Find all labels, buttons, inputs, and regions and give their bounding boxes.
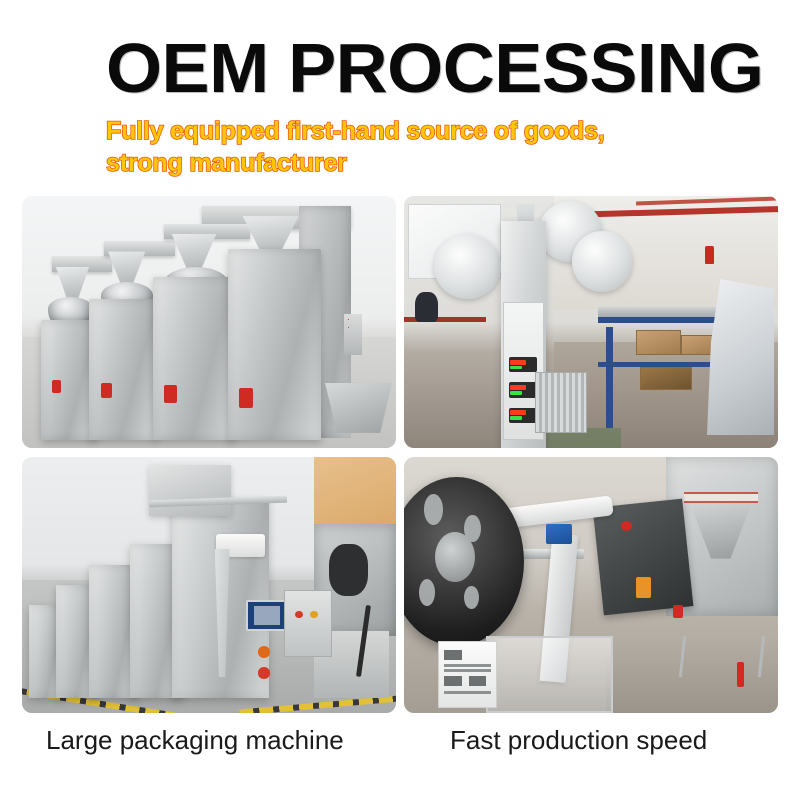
emergency-stop-button[interactable]: [258, 667, 271, 679]
subtitle-line-2: strong manufacturer: [106, 147, 706, 179]
page-title: OEM PROCESSING: [106, 34, 763, 103]
red-stripe: [737, 662, 744, 688]
controller-display-red: [510, 385, 525, 390]
cardboard-box: [640, 367, 692, 390]
controller-display-green: [510, 391, 521, 395]
oem-processing-poster: OEM PROCESSING Fully equipped first-hand…: [0, 0, 800, 800]
cardboard-box: [636, 330, 681, 355]
worker-silhouette: [415, 292, 437, 322]
label-text-line: [444, 691, 490, 694]
label-image: [444, 676, 461, 686]
hmi-screen: [254, 606, 281, 625]
reel-slot: [424, 494, 443, 524]
hmi-touchscreen[interactable]: [246, 600, 287, 631]
wooden-wall-panel: [314, 457, 396, 534]
covering-sheet: [707, 279, 774, 435]
photo-top-right[interactable]: [404, 196, 778, 448]
machine-opening: [329, 544, 368, 596]
caption-large-packaging-machine: Large packaging machine: [46, 722, 344, 758]
red-handle: [101, 383, 112, 398]
blue-sensor-box: [546, 524, 572, 544]
electrical-control-box: [284, 590, 333, 657]
label-image: [469, 676, 486, 686]
feed-funnel: [172, 234, 217, 269]
machine-band: [684, 492, 758, 503]
feed-funnel: [108, 251, 145, 284]
photo-gallery-grid: [22, 196, 778, 713]
reel-slot: [419, 579, 435, 606]
controller-display-red: [510, 360, 525, 365]
feed-funnel: [56, 267, 90, 300]
subtitle-line-1: Fully equipped first-hand source of good…: [106, 115, 706, 147]
temperature-controller: [509, 357, 537, 372]
machine-legs: [679, 636, 766, 677]
film-reel-black: [404, 477, 524, 646]
photo-top-left[interactable]: [22, 196, 396, 448]
fire-extinguisher: [705, 246, 714, 264]
caption-row: Large packaging machine Fast production …: [0, 722, 800, 772]
photo-bottom-left[interactable]: [22, 457, 396, 713]
controller-display-green: [510, 416, 521, 420]
film-reel: [572, 231, 632, 291]
instruction-label: [438, 641, 498, 708]
label-image: [444, 650, 461, 660]
reel-slot: [464, 586, 479, 610]
reel-hub: [435, 532, 475, 583]
label-text-line: [444, 664, 490, 667]
photo-bottom-right[interactable]: [404, 457, 778, 713]
packaging-machine: [228, 249, 322, 441]
control-panel: [344, 314, 363, 354]
page-subtitle: Fully equipped first-hand source of good…: [106, 115, 706, 179]
workbench-frame: [606, 327, 613, 428]
safety-guard-panel: [486, 636, 613, 713]
red-handle: [52, 380, 61, 393]
orange-cable: [636, 577, 651, 597]
red-handle: [239, 388, 253, 408]
red-button[interactable]: [673, 605, 683, 618]
discharge-cone: [690, 505, 751, 559]
temperature-controller: [509, 382, 537, 397]
controller-display-red: [510, 410, 525, 415]
caption-fast-production-speed: Fast production speed: [450, 722, 707, 758]
poster-header: OEM PROCESSING Fully equipped first-hand…: [0, 0, 800, 196]
controller-display-green: [510, 366, 521, 370]
red-handle: [164, 385, 177, 403]
temperature-controller: [509, 408, 537, 423]
label-text-line: [444, 669, 490, 672]
sealing-jaw: [535, 372, 587, 432]
packaging-machine: [89, 299, 156, 440]
packaging-machine: [153, 277, 235, 441]
film-reel: [434, 234, 501, 300]
emergency-stop-button[interactable]: [258, 646, 270, 657]
product-hopper: [149, 465, 231, 516]
